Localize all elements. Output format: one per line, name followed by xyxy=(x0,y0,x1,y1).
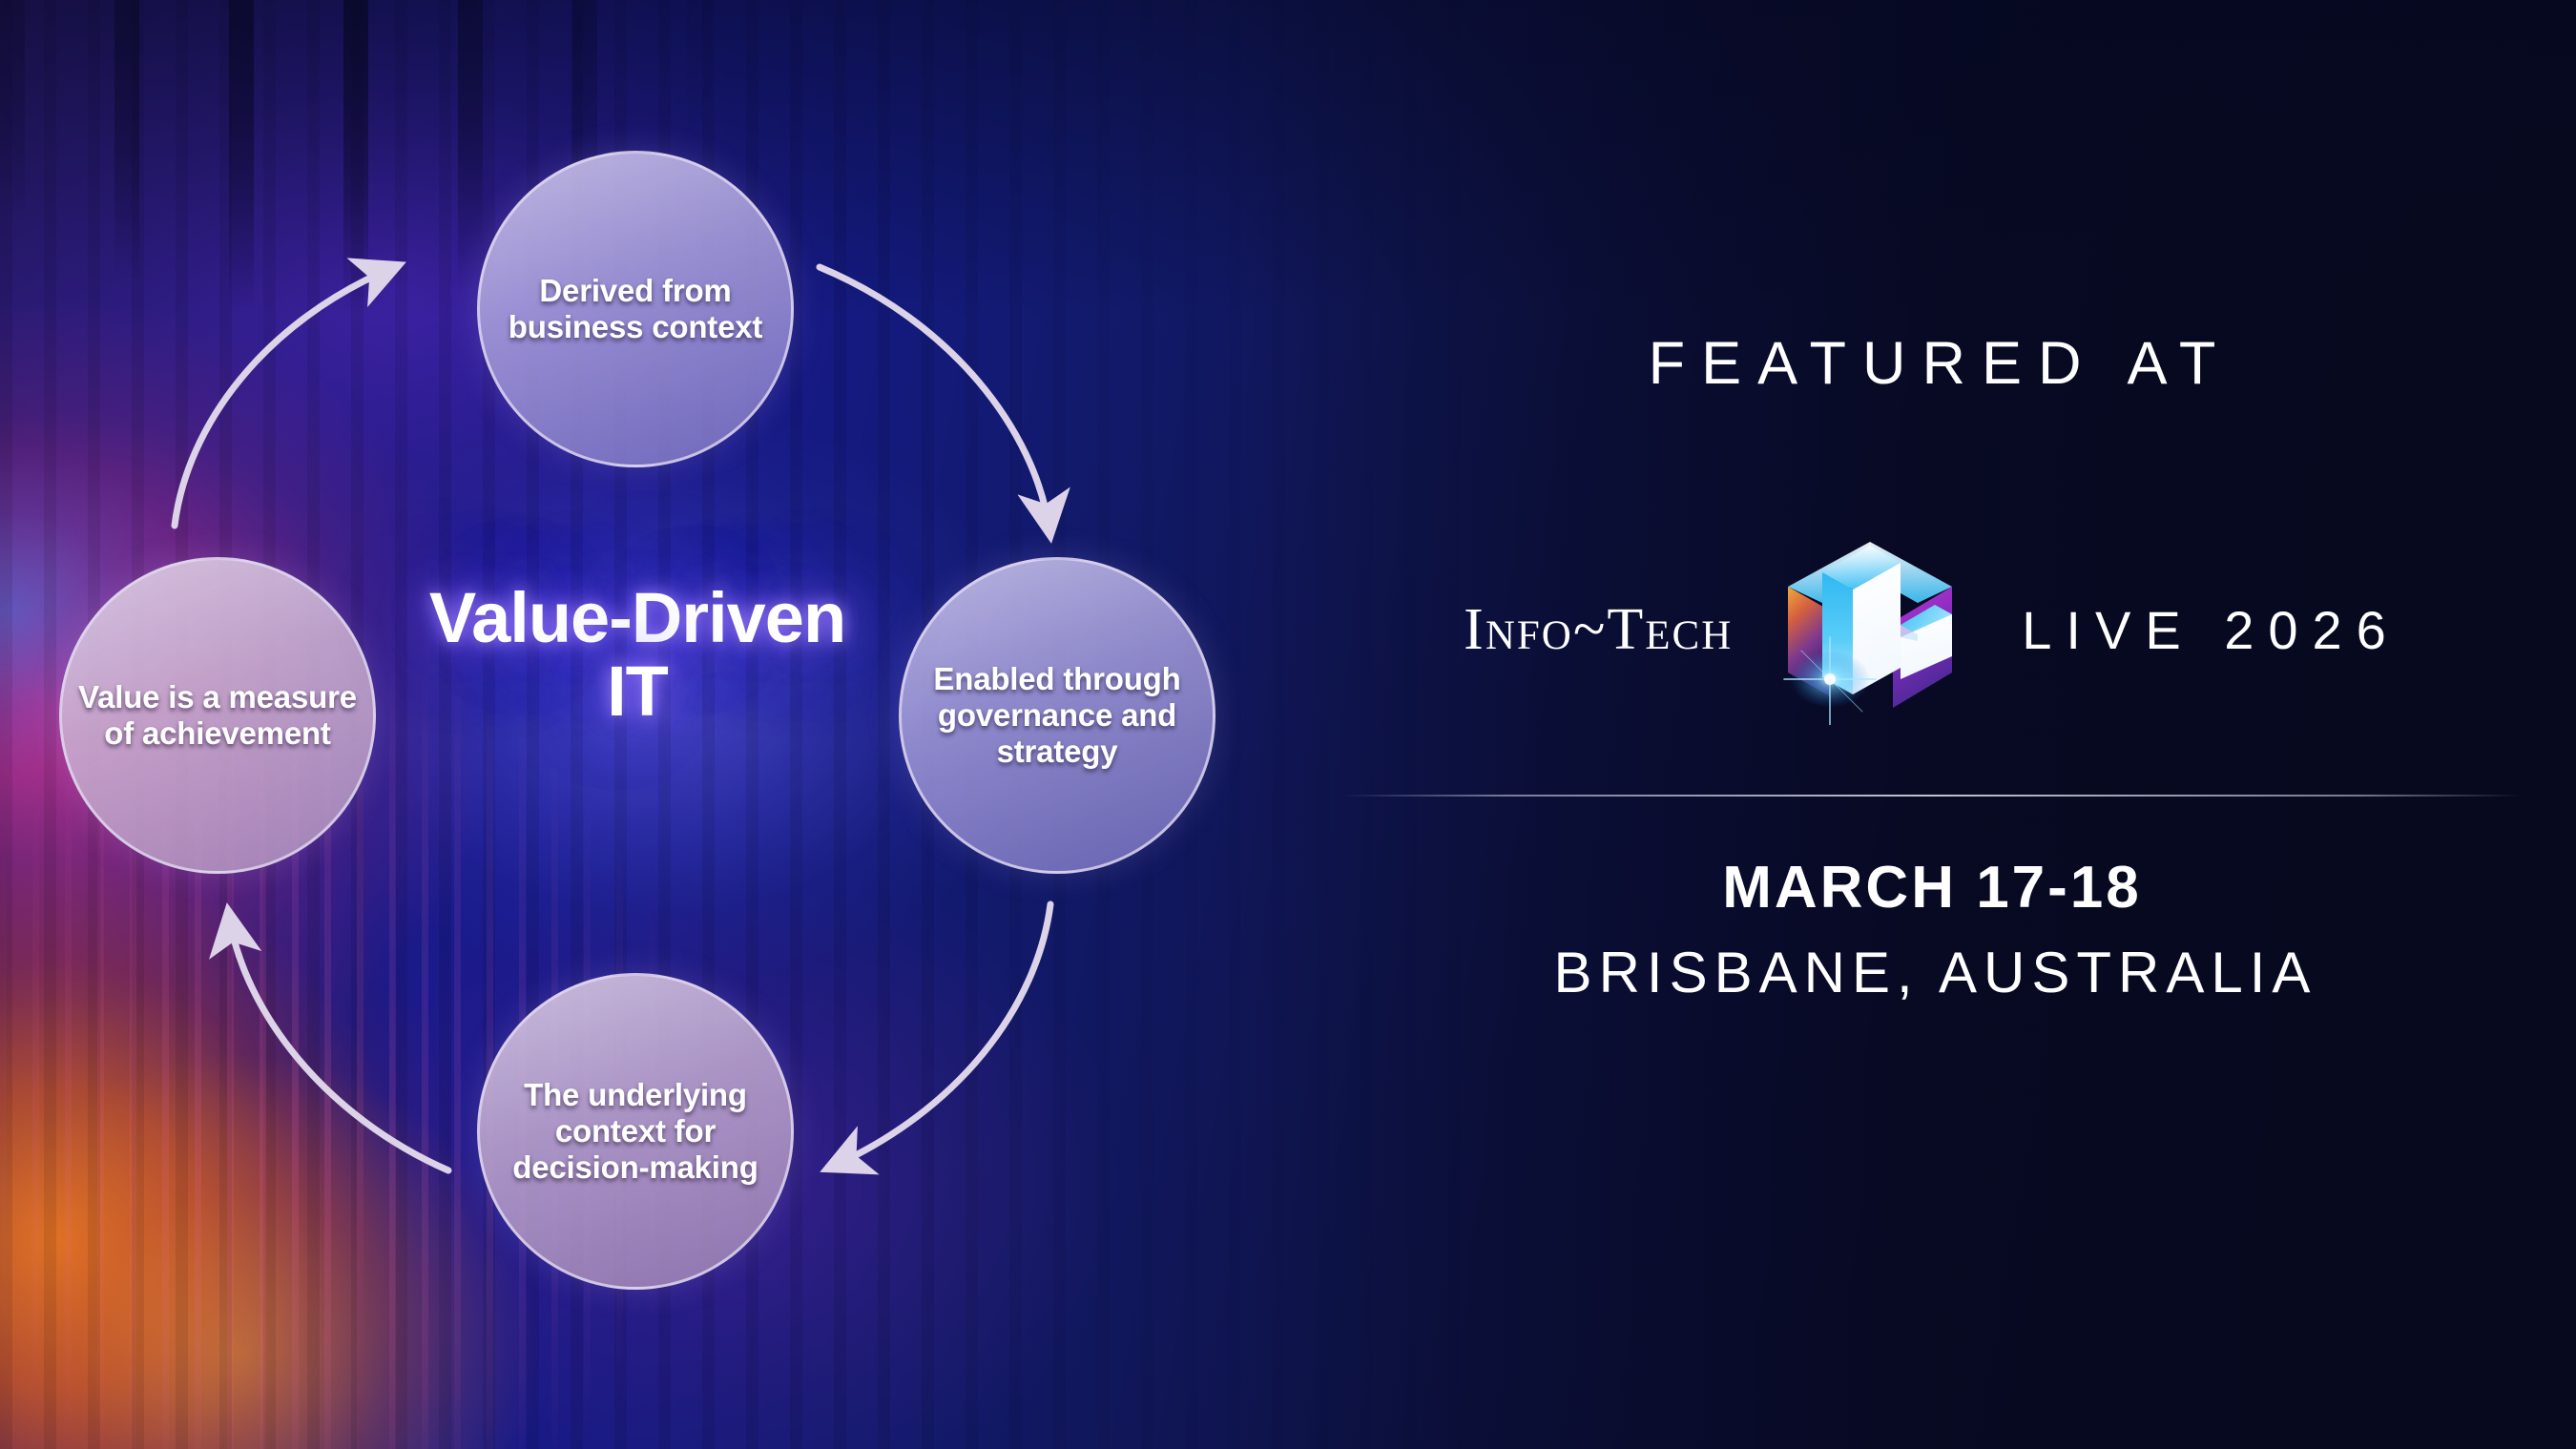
cycle-center-title-line2: IT xyxy=(380,655,895,729)
event-divider xyxy=(1342,795,2522,797)
promo-banner: Derived from business context Enabled th… xyxy=(0,0,2576,1449)
cycle-center-title: Value-Driven IT xyxy=(380,582,895,729)
lens-flare-core xyxy=(1824,673,1836,685)
cycle-node-top-label: Derived from business context xyxy=(480,273,791,346)
cycle-node-bottom-label: The underlying context for decision-maki… xyxy=(480,1077,791,1187)
value-driven-it-cycle-diagram: Derived from business context Enabled th… xyxy=(0,0,1288,1449)
cycle-center-title-line1: Value-Driven xyxy=(380,582,895,655)
live-2026-wordmark: LIVE 2026 xyxy=(2007,599,2400,661)
event-panel: FEATURED AT Info~Tech xyxy=(1288,0,2576,1449)
info-tech-hexagon-logo-icon xyxy=(1775,534,1965,725)
info-tech-wordmark: Info~Tech xyxy=(1464,596,1733,664)
featured-at-heading: FEATURED AT xyxy=(1288,329,2576,398)
arrow-top-to-right xyxy=(820,267,1049,530)
info-tech-live-lockup: Info~Tech xyxy=(1288,491,2576,768)
cycle-node-enabled-through-governance-and-strategy[interactable]: Enabled through governance and strategy xyxy=(899,557,1215,874)
event-location: BRISBANE, AUSTRALIA xyxy=(1288,940,2576,1005)
arrow-right-to-bottom xyxy=(832,904,1050,1167)
cycle-node-value-is-a-measure-of-achievement[interactable]: Value is a measure of achievement xyxy=(59,557,376,874)
cycle-node-left-label: Value is a measure of achievement xyxy=(62,679,373,753)
cycle-node-right-label: Enabled through governance and strategy xyxy=(902,661,1213,771)
arrow-left-to-top xyxy=(175,267,394,526)
arrow-bottom-to-left xyxy=(229,916,448,1170)
cycle-node-underlying-context-for-decision-making[interactable]: The underlying context for decision-maki… xyxy=(477,973,794,1290)
hexagon-l-mark-icon xyxy=(1775,534,1965,725)
cycle-node-derived-from-business-context[interactable]: Derived from business context xyxy=(477,151,794,467)
event-date: MARCH 17-18 xyxy=(1288,854,2576,921)
